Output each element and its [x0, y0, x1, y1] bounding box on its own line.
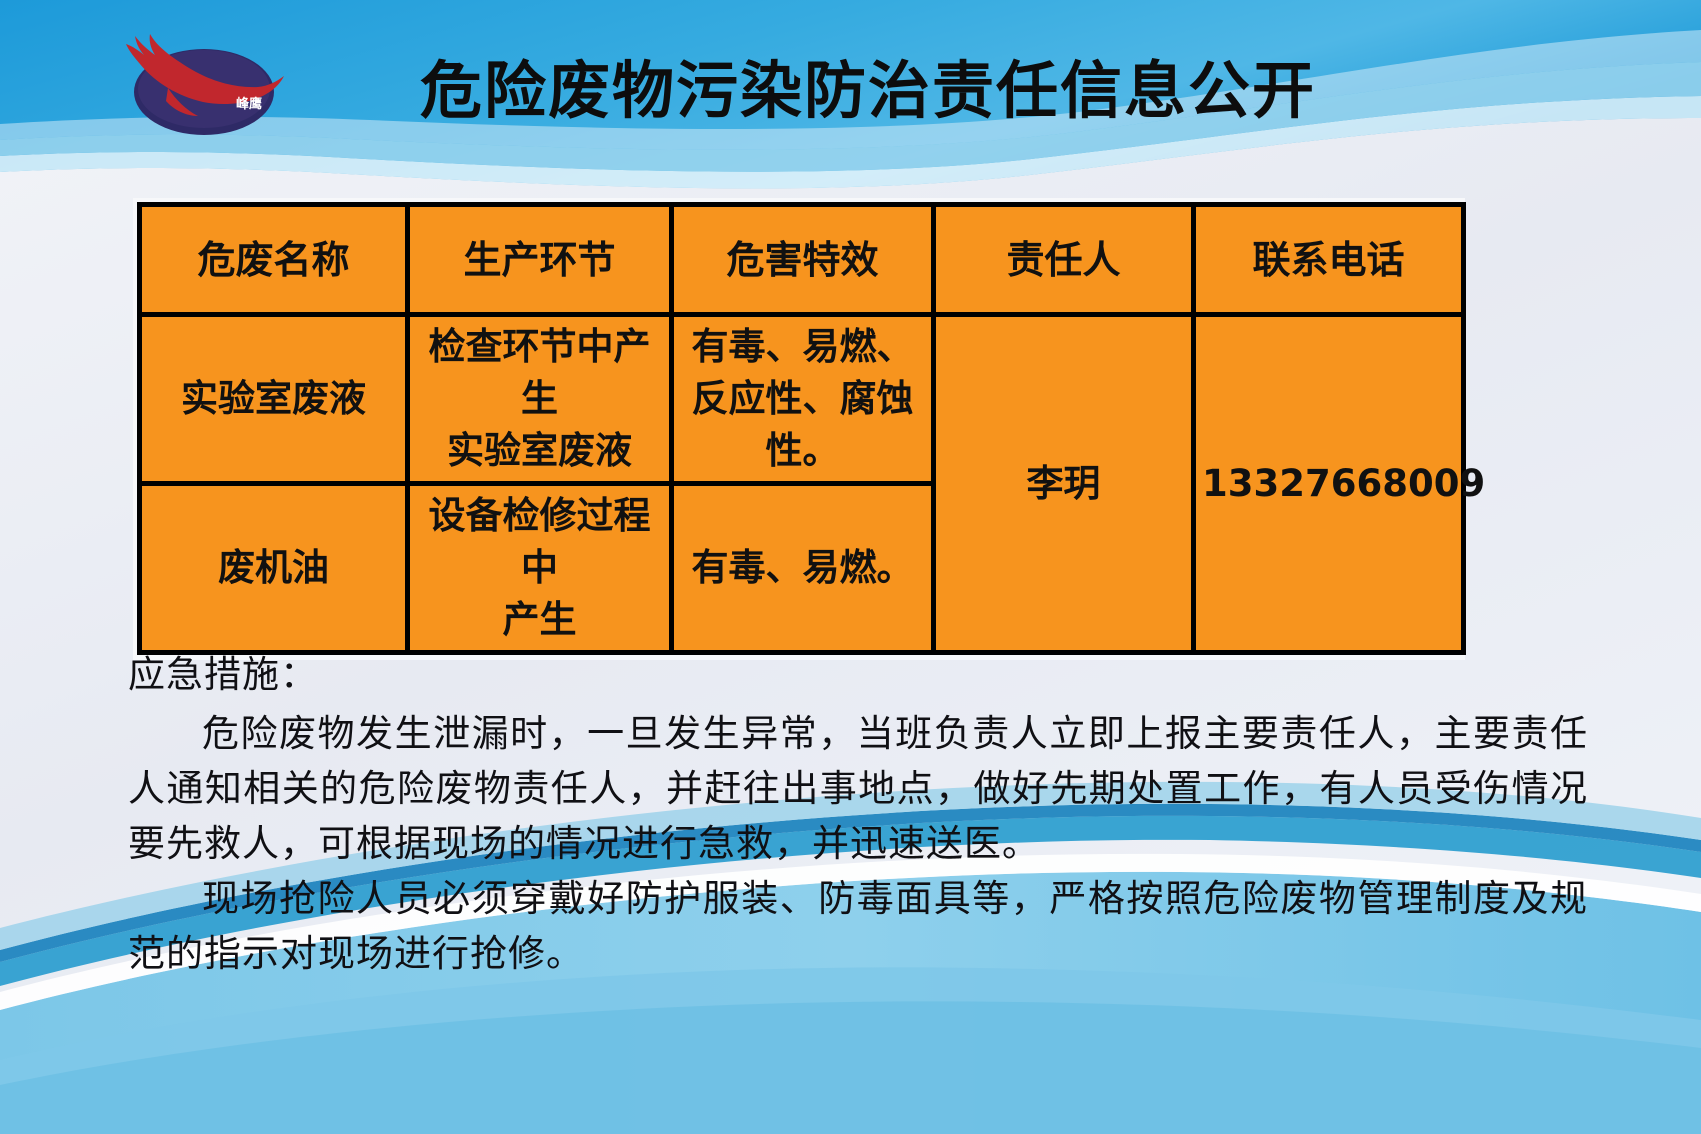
eagle-logo-icon: 峰鹰	[108, 16, 293, 146]
slide-root: 峰鹰 危险废物污染防治责任信息公开 危废名称 生产环节 危害特效 责任人 联系电…	[0, 0, 1701, 1134]
column-header-waste-name: 危废名称	[140, 205, 408, 315]
cell-contact-phone: 13327668009	[1194, 315, 1464, 653]
cell-stage-2-line1: 设备检修过程中	[416, 490, 663, 594]
hazardous-waste-table: 危废名称 生产环节 危害特效 责任人 联系电话 实验室废液 检查环节中产生 实验…	[137, 202, 1466, 655]
page-title: 危险废物污染防治责任信息公开	[420, 56, 1320, 126]
column-header-hazard-effect: 危害特效	[672, 205, 934, 315]
cell-waste-name-2: 废机油	[140, 484, 408, 653]
emergency-paragraph-1: 危险废物发生泄漏时，一旦发生异常，当班负责人立即上报主要责任人，主要责任人通知相…	[128, 707, 1588, 872]
cell-production-stage-1: 检查环节中产生 实验室废液	[408, 315, 672, 484]
cell-hazard-effect-2: 有毒、易燃。	[672, 484, 934, 653]
emergency-paragraph-2: 现场抢险人员必须穿戴好防护服装、防毒面具等，严格按照危险废物管理制度及规范的指示…	[128, 872, 1588, 982]
cell-responsible-person: 李玥	[934, 315, 1194, 653]
cell-stage-1-line2: 实验室废液	[416, 425, 663, 477]
column-header-production-stage: 生产环节	[408, 205, 672, 315]
table-row: 实验室废液 检查环节中产生 实验室废液 有毒、易燃、反应性、腐蚀性。 李玥 13…	[140, 315, 1464, 484]
cell-waste-name-1: 实验室废液	[140, 315, 408, 484]
cell-stage-2-line2: 产生	[416, 594, 663, 646]
hazardous-waste-table-container: 危废名称 生产环节 危害特效 责任人 联系电话 实验室废液 检查环节中产生 实验…	[133, 198, 1465, 660]
page-header: 峰鹰 危险废物污染防治责任信息公开	[0, 0, 1701, 175]
cell-stage-1-line1: 检查环节中产生	[416, 321, 663, 425]
column-header-responsible-person: 责任人	[934, 205, 1194, 315]
cell-hazard-effect-1: 有毒、易燃、反应性、腐蚀性。	[672, 315, 934, 484]
emergency-measures-heading: 应急措施：	[128, 648, 1588, 703]
cell-production-stage-2: 设备检修过程中 产生	[408, 484, 672, 653]
emergency-measures-section: 应急措施： 危险废物发生泄漏时，一旦发生异常，当班负责人立即上报主要责任人，主要…	[128, 648, 1588, 982]
table-header-row: 危废名称 生产环节 危害特效 责任人 联系电话	[140, 205, 1464, 315]
column-header-contact-phone: 联系电话	[1194, 205, 1464, 315]
logo-text: 峰鹰	[236, 96, 262, 112]
